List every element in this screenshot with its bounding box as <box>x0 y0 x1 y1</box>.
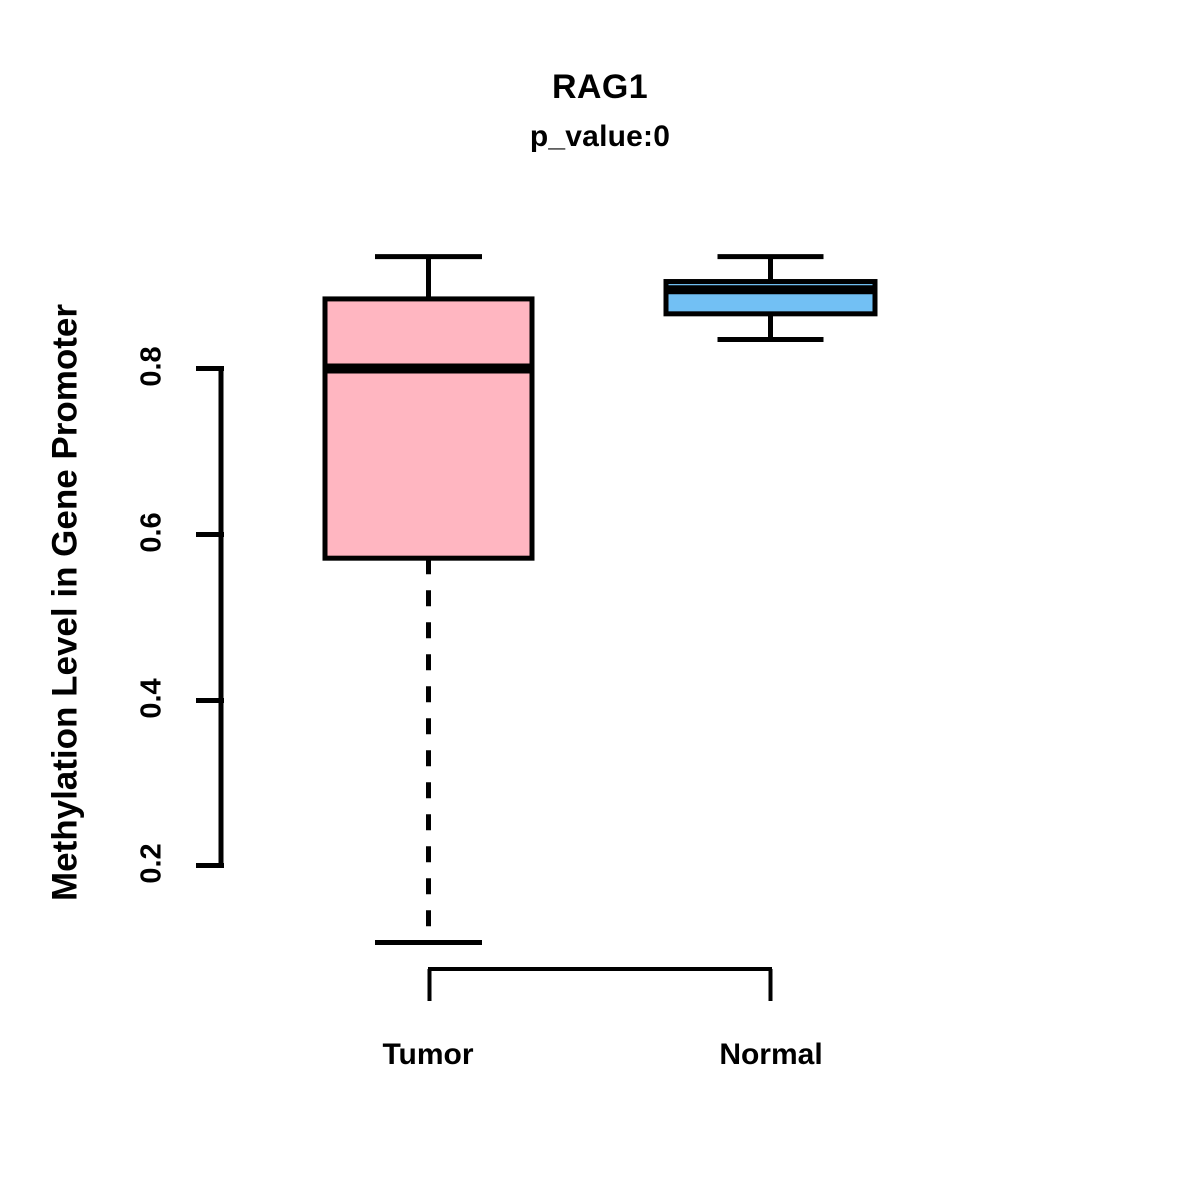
box-tumor <box>323 257 535 943</box>
plot-canvas <box>0 0 1200 1200</box>
y-axis <box>196 368 224 866</box>
boxplot-figure: RAG1 p_value:0 Methylation Level in Gene… <box>0 0 1200 1200</box>
tumor-box-rect <box>325 299 532 558</box>
box-normal <box>664 257 878 340</box>
x-axis <box>428 969 772 1001</box>
